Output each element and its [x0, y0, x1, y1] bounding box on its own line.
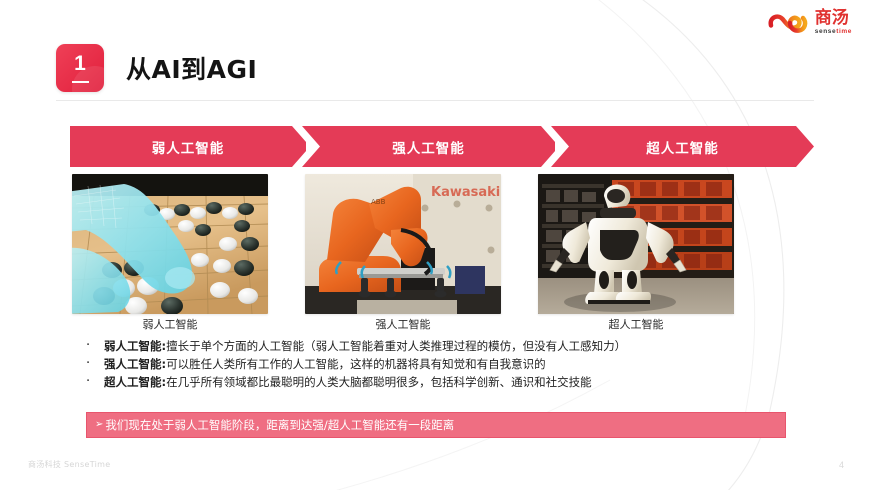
bullet-item-super: · 超人工智能:在几乎所有领域都比最聪明的人类大脑都聪明很多，包括科学创新、通识… — [86, 373, 806, 391]
stage-label-weak: 弱人工智能 — [152, 137, 225, 157]
sensetime-infinity-swoosh-icon — [767, 10, 809, 36]
photo-caption-weak: 弱人工智能 — [72, 316, 268, 334]
slide-root: 商汤 sensetime 1 从AI到AGI 弱人工智能 强人工智能 超人工智能 — [0, 0, 870, 490]
logo-wordmark: 商汤 sensetime — [815, 10, 852, 36]
bullet-term-super: 超人工智能: — [104, 375, 166, 389]
bullet-desc-strong: 可以胜任人类所有工作的人工智能，这样的机器将具有知觉和有自我意识的 — [166, 357, 546, 371]
sensetime-logo: 商汤 sensetime — [767, 10, 852, 36]
stage-label-super: 超人工智能 — [646, 137, 719, 157]
badge-underline — [72, 81, 89, 84]
logo-chinese-name: 商汤 — [815, 10, 849, 27]
page-number: 4 — [839, 460, 844, 470]
photo-cell-strong: Kawasaki — [305, 174, 501, 314]
bullet-marker: · — [86, 373, 104, 391]
logo-english-name: sensetime — [815, 29, 852, 36]
bullet-desc-weak: 擅长于单个方面的人工智能（弱人工智能着重对人类推理过程的模仿，但没有人工感知力） — [166, 339, 626, 353]
stage-chevron-super: 超人工智能 — [551, 126, 814, 167]
conclusion-text: 我们现在处于弱人工智能阶段，距离到达强/超人工智能还有一段距离 — [105, 417, 454, 433]
bullet-marker: · — [86, 355, 104, 373]
photo-caption-strong: 强人工智能 — [305, 316, 501, 334]
svg-text:Kawasaki: Kawasaki — [431, 185, 500, 200]
photo-cell-super — [538, 174, 734, 314]
conclusion-highlight-box: ➢ 我们现在处于弱人工智能阶段，距离到达强/超人工智能还有一段距离 — [86, 412, 786, 438]
photo-cell-weak — [72, 174, 268, 314]
bullet-item-strong: · 强人工智能:可以胜任人类所有工作的人工智能，这样的机器将具有知觉和有自我意识… — [86, 355, 806, 373]
bullet-marker: · — [86, 337, 104, 355]
photo-row: Kawasaki — [72, 174, 812, 314]
bullet-list: · 弱人工智能:擅长于单个方面的人工智能（弱人工智能着重对人类推理过程的模仿，但… — [86, 337, 806, 391]
page-title: 从AI到AGI — [126, 50, 257, 86]
footer-brand: 商汤科技 SenseTime — [28, 459, 110, 470]
logo-english-part1: sense — [815, 28, 836, 35]
logo-english-part2: time — [836, 28, 852, 35]
title-divider — [56, 100, 814, 101]
bullet-desc-super: 在几乎所有领域都比最聪明的人类大脑都聪明很多，包括科学创新、通识和社交技能 — [166, 375, 592, 389]
section-number: 1 — [74, 53, 86, 74]
white-humanoid-robot-in-store-photo — [538, 174, 734, 314]
bullet-term-weak: 弱人工智能: — [104, 339, 166, 353]
stage-chevron-weak: 弱人工智能 — [70, 126, 306, 167]
bullet-item-weak: · 弱人工智能:擅长于单个方面的人工智能（弱人工智能着重对人类推理过程的模仿，但… — [86, 337, 806, 355]
stage-chevron-strong: 强人工智能 — [302, 126, 555, 167]
stage-chevron-banner: 弱人工智能 强人工智能 超人工智能 — [70, 126, 814, 167]
go-board-ai-hand-photo — [72, 174, 268, 314]
stage-label-strong: 强人工智能 — [392, 137, 465, 157]
right-arrow-icon: ➢ — [95, 420, 103, 430]
slide-header: 1 从AI到AGI — [56, 44, 257, 92]
svg-text:ABB: ABB — [371, 198, 386, 206]
orange-industrial-robot-arm-photo: Kawasaki — [305, 174, 501, 314]
photo-caption-super: 超人工智能 — [538, 316, 734, 334]
photo-caption-row: 弱人工智能 强人工智能 超人工智能 — [72, 316, 812, 334]
bullet-term-strong: 强人工智能: — [104, 357, 166, 371]
section-number-badge: 1 — [56, 44, 104, 92]
